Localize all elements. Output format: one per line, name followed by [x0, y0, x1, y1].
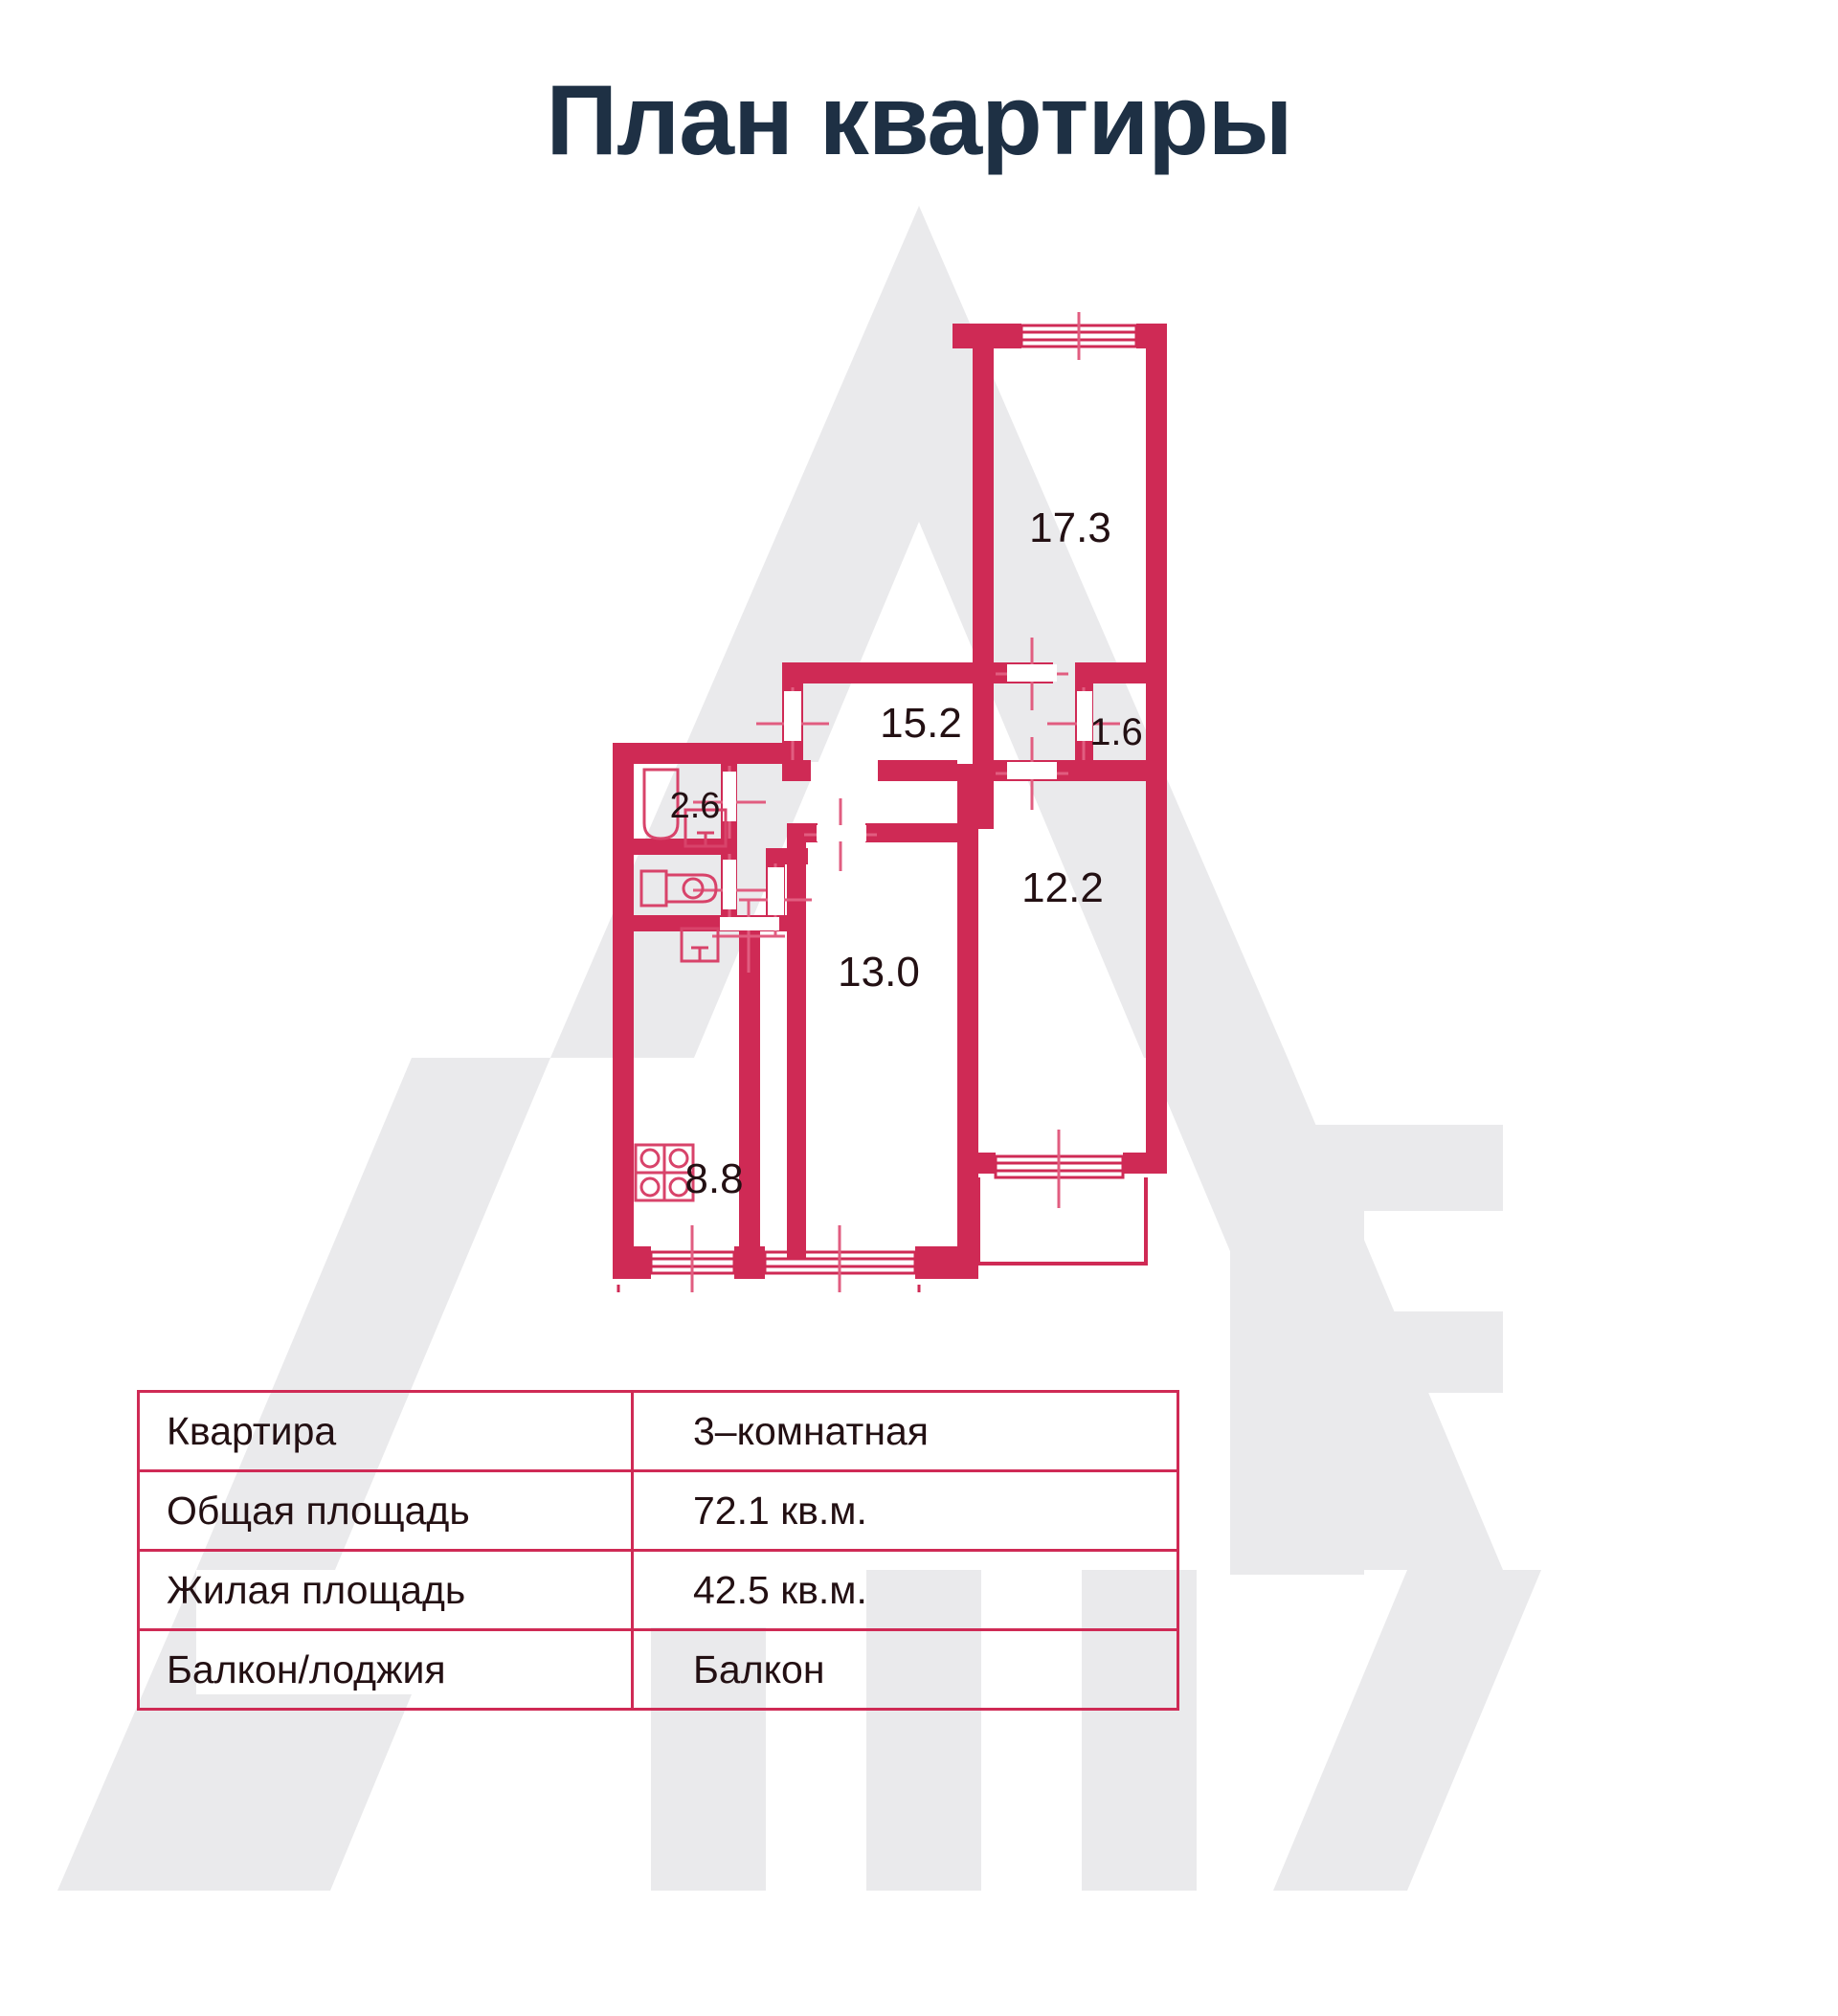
info-label-living-area: Жилая площадь	[139, 1551, 633, 1630]
room-label-12-2: 12.2	[1021, 864, 1104, 911]
room-label-17-3: 17.3	[1029, 504, 1111, 551]
room-label-8-8: 8.8	[684, 1155, 743, 1202]
floor-plan-drawing: 17.3 15.2 1.6 2.6 12.2 13.0 8.8 5.0	[0, 163, 1838, 1292]
floor-plan-page: План квартиры	[0, 0, 1838, 2016]
dimension-label: 5.0	[741, 1290, 796, 1292]
info-label-apartment: Квартира	[139, 1392, 633, 1471]
toilet-fixture	[641, 871, 716, 906]
info-value-apartment: 3–комнатная	[633, 1392, 1178, 1471]
fixtures-group	[636, 770, 726, 1200]
info-value-living-area: 42.5 кв.м.	[633, 1551, 1178, 1630]
info-value-balcony: Балкон	[633, 1630, 1178, 1710]
apartment-info-table: Квартира 3–комнатная Общая площадь 72.1 …	[137, 1390, 1179, 1711]
info-value-total-area: 72.1 кв.м.	[633, 1471, 1178, 1551]
sink-fixture-hall	[682, 929, 718, 961]
room-label-15-2: 15.2	[880, 700, 962, 747]
room-label-13-0: 13.0	[838, 949, 920, 996]
table-row: Квартира 3–комнатная	[139, 1392, 1178, 1471]
info-label-balcony: Балкон/лоджия	[139, 1630, 633, 1710]
table-row: Жилая площадь 42.5 кв.м.	[139, 1551, 1178, 1630]
table-row: Балкон/лоджия Балкон	[139, 1630, 1178, 1710]
room-label-1-6: 1.6	[1089, 711, 1143, 753]
room-label-2-6: 2.6	[670, 786, 721, 826]
info-label-total-area: Общая площадь	[139, 1471, 633, 1551]
page-title: План квартиры	[0, 69, 1838, 173]
table-row: Общая площадь 72.1 кв.м.	[139, 1471, 1178, 1551]
